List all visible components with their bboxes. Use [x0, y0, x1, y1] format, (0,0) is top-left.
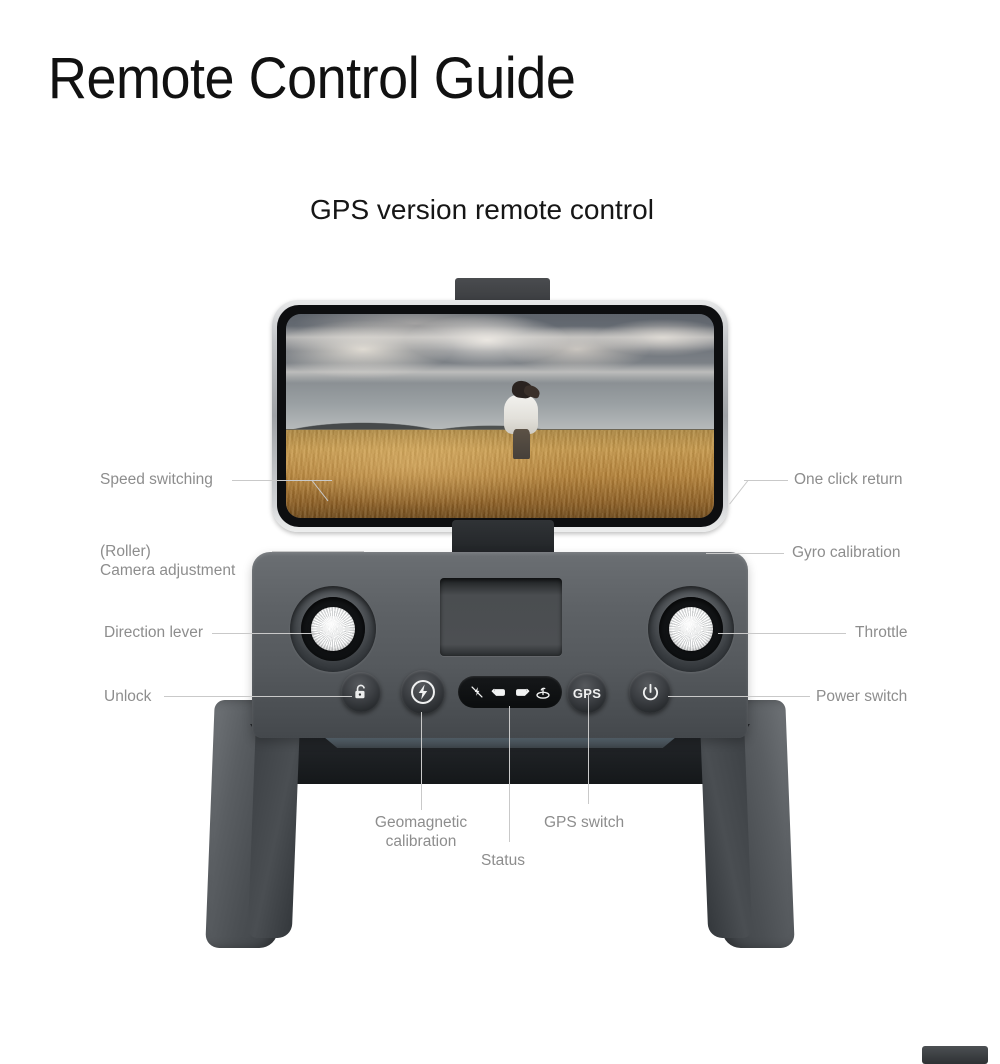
grip-handle-left-inner [248, 712, 301, 938]
flash-off-icon [468, 683, 486, 701]
photo-cloud-band-1 [286, 326, 714, 350]
photo-cloud-band-2 [286, 363, 714, 383]
callout-speed-switching: Speed switching [100, 470, 213, 490]
status-display [440, 578, 562, 656]
callout-gps-switch: GPS switch [544, 813, 624, 833]
leader-one-click-return-diag [729, 480, 748, 504]
photo-person-shirt [504, 395, 538, 434]
leader-camera-adjustment [272, 551, 364, 552]
grip-handle-right-inner [700, 712, 753, 938]
leader-gyro-calibration [706, 553, 784, 554]
callout-gyro-calibration: Gyro calibration [792, 543, 901, 563]
signal-icon [534, 683, 552, 701]
stick-cap-left [311, 607, 355, 651]
page-subtitle: GPS version remote control [310, 192, 654, 228]
lightning-bolt-circle-icon [409, 678, 437, 706]
remote-controller-illustration: GPS [0, 0, 1000, 1000]
phone-bezel [277, 305, 723, 527]
leader-gps-switch [588, 694, 589, 804]
callout-geomagnetic-calibration: Geomagnetic calibration [358, 813, 484, 851]
phone-screen[interactable] [286, 314, 714, 518]
gps-switch-button[interactable]: GPS [567, 673, 607, 713]
drone-left-icon [490, 683, 508, 701]
power-icon [640, 682, 661, 703]
callout-camera-adjustment-line1: (Roller) [100, 542, 235, 561]
leader-geomagnetic [421, 712, 422, 810]
leader-speed-switching [232, 480, 332, 481]
leader-unlock [164, 696, 352, 697]
photo-person-legs [513, 429, 530, 458]
gps-button-label: GPS [573, 686, 601, 701]
guide-page: Remote Control Guide GPS version remote … [0, 0, 1000, 1000]
callout-camera-adjustment: (Roller) Camera adjustment [100, 542, 235, 580]
callout-unlock: Unlock [104, 687, 151, 707]
phone-mount-hinge [922, 1046, 988, 1064]
callout-status: Status [481, 851, 525, 871]
callout-camera-adjustment-line2: Camera adjustment [100, 561, 235, 580]
callout-one-click-return: One click return [794, 470, 903, 490]
leader-direction-lever [212, 633, 320, 634]
callout-geomagnetic-line2: calibration [358, 832, 484, 851]
mounted-phone [272, 300, 728, 532]
leader-status [509, 706, 510, 842]
leader-power-switch [668, 696, 810, 697]
geomagnetic-calibration-button[interactable] [401, 670, 445, 714]
photo-field-light [286, 430, 714, 518]
page-title: Remote Control Guide [48, 44, 575, 114]
callout-throttle: Throttle [855, 623, 908, 643]
callout-geomagnetic-line1: Geomagnetic [358, 813, 484, 832]
throttle-stick[interactable] [648, 586, 734, 672]
status-indicator-strip [458, 676, 562, 708]
callout-direction-lever: Direction lever [104, 623, 203, 643]
unlock-button[interactable] [341, 672, 381, 712]
open-padlock-icon [352, 683, 371, 702]
stick-cap-right [669, 607, 713, 651]
callout-power-switch: Power switch [816, 687, 907, 707]
leader-one-click-return [744, 480, 788, 481]
direction-lever-stick[interactable] [290, 586, 376, 672]
photo-person [502, 381, 541, 459]
leader-throttle [718, 633, 846, 634]
power-switch-button[interactable] [629, 671, 671, 713]
drone-right-icon [512, 683, 530, 701]
